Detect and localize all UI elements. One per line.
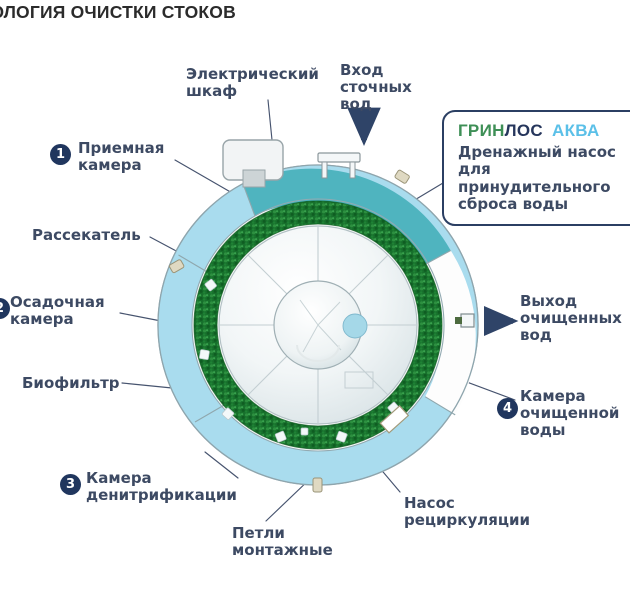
brand-part-akva: АКВА <box>552 121 600 140</box>
badge-priemnaya-kamera: 1 <box>50 144 71 165</box>
brand-part-los: ЛОС <box>505 121 543 140</box>
diagram-stage: ЮЛОГИЯ ОЧИСТКИ СТОКОВ <box>0 0 630 600</box>
leader-shkaf <box>268 100 272 140</box>
label-osadochnaya-kamera: Осадочная камера <box>10 294 105 328</box>
label-elektricheskiy-shkaf: Электрический шкаф <box>186 66 319 100</box>
label-rassekatel: Рассекатель <box>32 227 141 244</box>
brand-part-grin: ГРИН <box>458 121 505 140</box>
label-biofiltr: Биофильтр <box>22 375 120 392</box>
label-petli-montazhnye: Петли монтажные <box>232 525 333 559</box>
label-vhod-stochnyh-vod: Вход сточных вод <box>340 62 412 113</box>
electrical-cabinet-icon <box>223 140 283 187</box>
dome-blue-port <box>343 314 367 338</box>
label-kamera-denitrifikacii: Камера денитрификации <box>86 470 237 504</box>
callout-description: Дренажный насос для принудительного сбро… <box>458 144 630 214</box>
central-dome <box>219 226 417 424</box>
badge-kamera-denitrifikacii: 3 <box>60 474 81 495</box>
label-vyhod-ochishchennyh-vod: Выход очищенных вод <box>520 293 622 344</box>
drainage-pump-callout: ГРИНЛОСАКВА Дренажный насос для принудит… <box>442 110 630 226</box>
badge-kamera-ochishchennoy-vody: 4 <box>497 398 518 419</box>
brand-logo: ГРИНЛОСАКВА <box>458 121 630 141</box>
label-kamera-ochishchennoy-vody: Камера очищенной воды <box>520 388 619 439</box>
label-priemnaya-kamera: Приемная камера <box>78 140 164 174</box>
label-nasos-recirkulyacii: Насос рециркуляции <box>404 495 530 529</box>
